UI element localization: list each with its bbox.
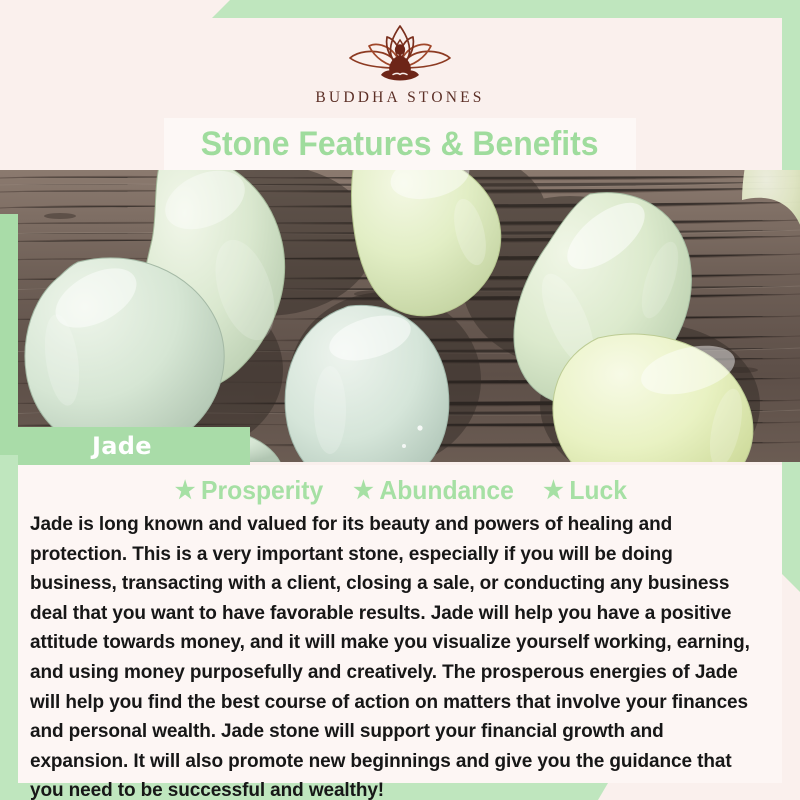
benefit-label: Abundance [380,475,514,506]
lotus-meditation-icon [325,22,475,84]
brand-logo: BUDDHA STONES [315,22,484,107]
star-icon: ★ [354,479,374,503]
benefit-label: Prosperity [201,475,323,506]
stone-name: Jade [92,432,152,460]
benefits-list: ★ Prosperity ★ Abundance ★ Luck [30,475,770,506]
benefit-label: Luck [569,475,627,506]
photo-illustration [0,170,800,462]
page-title: Stone Features & Benefits [201,125,599,164]
stone-info-card: BUDDHA STONES Stone Features & Benefits [0,0,800,800]
decor-left-green-strip-lower [0,455,18,800]
star-icon: ★ [175,479,195,503]
brand-header: BUDDHA STONES [0,0,800,118]
decor-left-green-strip-upper [0,214,18,459]
stone-description: Jade is long known and valued for its be… [30,510,759,800]
star-icon: ★ [543,479,563,503]
benefit-prosperity: ★ Prosperity [175,475,323,506]
benefit-abundance: ★ Abundance [354,475,515,506]
stone-content-panel: ★ Prosperity ★ Abundance ★ Luck Jade is … [18,465,782,783]
title-banner: Stone Features & Benefits [164,118,636,170]
benefit-luck: ★ Luck [543,475,627,506]
jade-stones-photo [0,170,800,462]
brand-name: BUDDHA STONES [315,89,484,107]
stone-name-badge: Jade [18,427,250,465]
